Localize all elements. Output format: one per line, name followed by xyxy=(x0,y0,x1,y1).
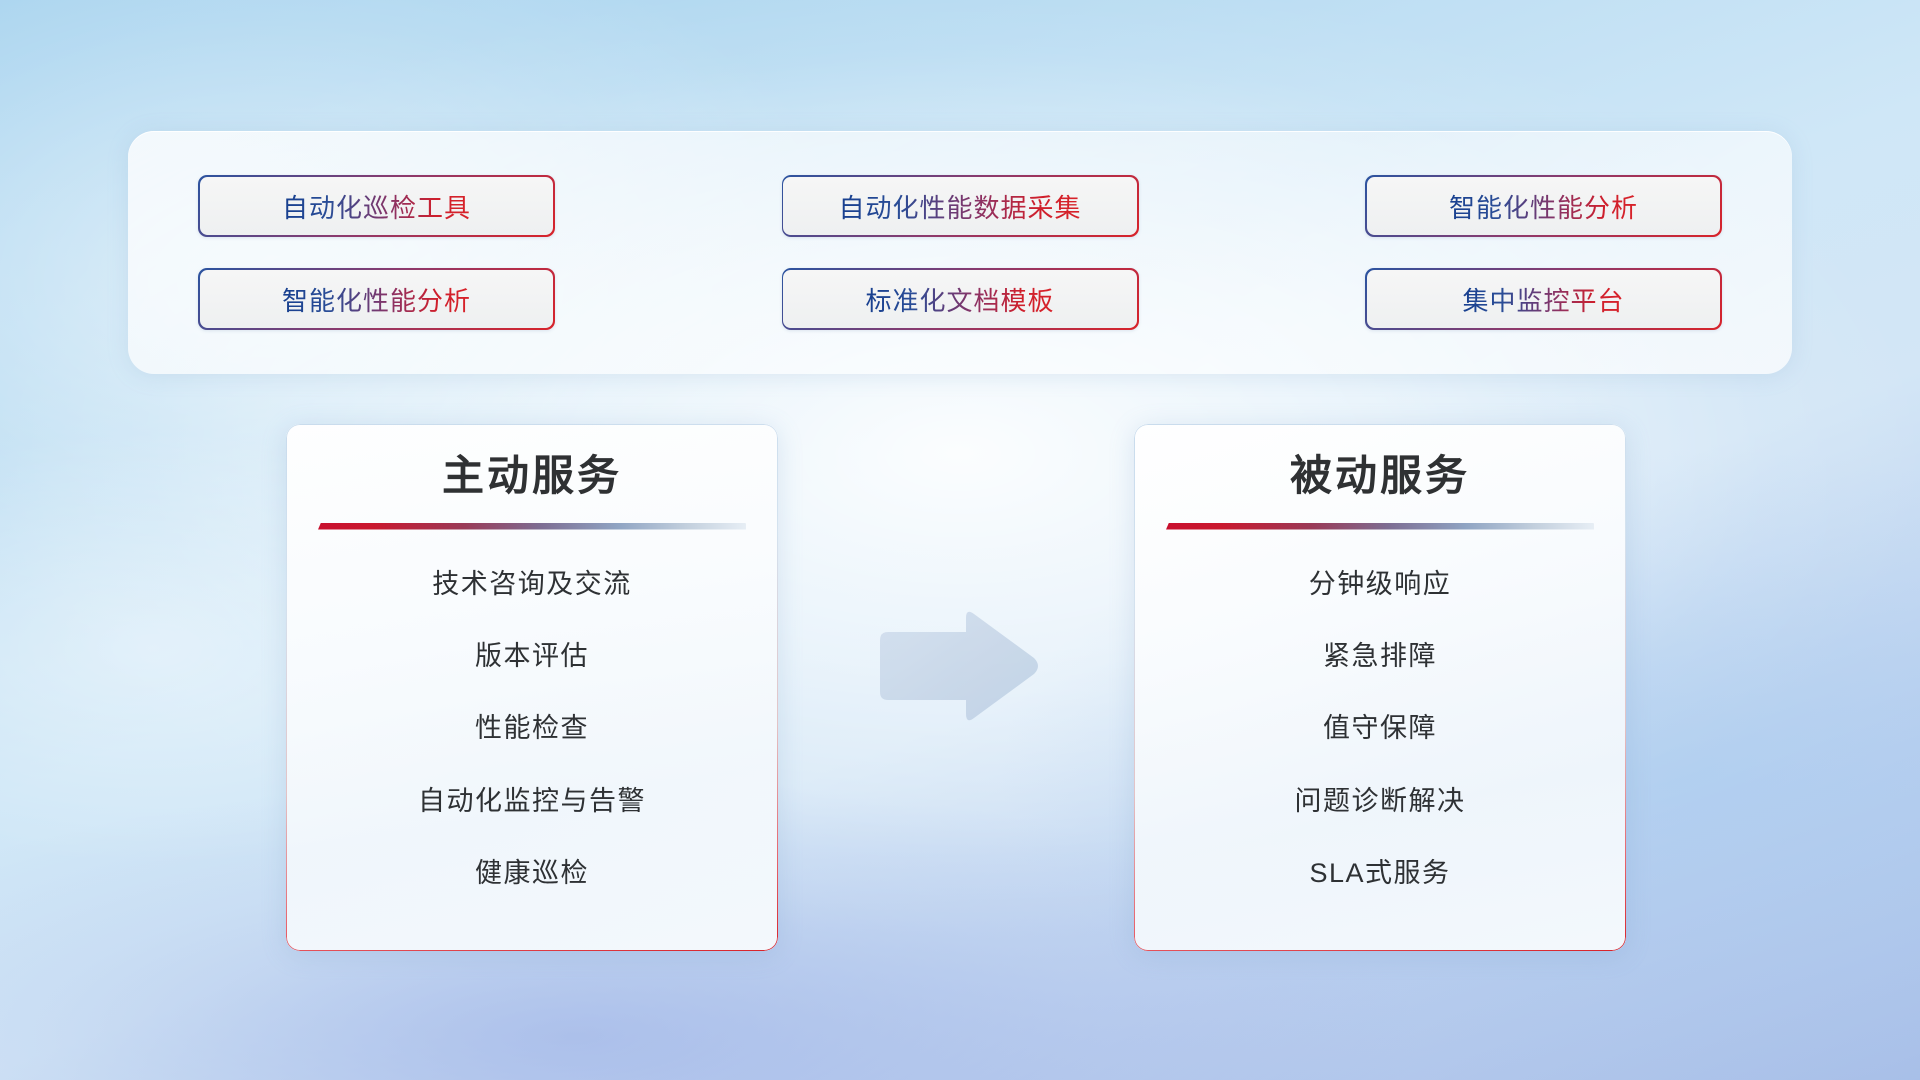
capability-tag-surface: 集中监控平台 xyxy=(1367,270,1721,329)
service-item: 健康巡检 xyxy=(475,857,589,889)
service-card-divider xyxy=(318,523,746,530)
diagram-stage: 自动化巡检工具 自动化性能数据采集 智能化性能分析 智能化性能分析 xyxy=(0,0,1920,1080)
capability-tag-row: 智能化性能分析 标准化文档模板 集中监控平台 xyxy=(198,268,1722,330)
service-card-title: 被动服务 xyxy=(1290,450,1470,503)
service-item-list: 分钟级响应 紧急排障 值守保障 问题诊断解决 SLA式服务 xyxy=(1174,568,1586,890)
service-item: 技术咨询及交流 xyxy=(432,568,632,600)
service-card-body: 主动服务 技术咨询及交流 版本评估 性能检查 自动化监控与告警 健康巡检 xyxy=(286,424,778,951)
service-card-divider xyxy=(1166,523,1594,530)
service-item: 值守保障 xyxy=(1323,712,1437,744)
service-card-proactive[interactable]: 主动服务 技术咨询及交流 版本评估 性能检查 自动化监控与告警 健康巡检 xyxy=(286,424,778,951)
service-item: 版本评估 xyxy=(475,640,589,672)
capability-tag[interactable]: 智能化性能分析 xyxy=(198,268,555,330)
capability-tag[interactable]: 智能化性能分析 xyxy=(1365,175,1722,237)
service-item-list: 技术咨询及交流 版本评估 性能检查 自动化监控与告警 健康巡检 xyxy=(326,568,738,890)
service-item: SLA式服务 xyxy=(1309,857,1450,889)
capability-tag[interactable]: 自动化性能数据采集 xyxy=(782,175,1139,237)
service-item: 分钟级响应 xyxy=(1309,568,1452,600)
capability-tag-surface: 智能化性能分析 xyxy=(200,270,554,329)
capability-tag-label: 自动化性能数据采集 xyxy=(838,188,1081,225)
service-item: 性能检查 xyxy=(475,712,589,744)
capability-tag-label: 集中监控平台 xyxy=(1462,281,1624,318)
capability-tag[interactable]: 标准化文档模板 xyxy=(782,268,1139,330)
capability-tag-label: 智能化性能分析 xyxy=(1449,188,1638,225)
capability-tag-surface: 标准化文档模板 xyxy=(783,270,1137,329)
service-card-body: 被动服务 分钟级响应 紧急排障 值守保障 问题诊断解决 SLA式服务 xyxy=(1134,424,1626,951)
capability-tag-surface: 智能化性能分析 xyxy=(1367,177,1721,236)
capability-tag[interactable]: 自动化巡检工具 xyxy=(198,175,555,237)
service-item: 紧急排障 xyxy=(1323,640,1437,672)
capability-tag-surface: 自动化性能数据采集 xyxy=(783,177,1137,236)
service-card-title: 主动服务 xyxy=(442,450,622,503)
arrow-right-icon xyxy=(874,606,1042,726)
service-card-reactive[interactable]: 被动服务 分钟级响应 紧急排障 值守保障 问题诊断解决 SLA式服务 xyxy=(1134,424,1626,951)
capability-tag-label: 智能化性能分析 xyxy=(282,281,471,318)
capability-tag[interactable]: 集中监控平台 xyxy=(1365,268,1722,330)
capability-tag-label: 自动化巡检工具 xyxy=(282,188,471,225)
capability-tag-label: 标准化文档模板 xyxy=(865,281,1054,318)
capability-tag-surface: 自动化巡检工具 xyxy=(200,177,554,236)
service-item: 自动化监控与告警 xyxy=(418,785,646,817)
capability-tag-row: 自动化巡检工具 自动化性能数据采集 智能化性能分析 xyxy=(198,175,1722,237)
capability-tag-panel: 自动化巡检工具 自动化性能数据采集 智能化性能分析 智能化性能分析 xyxy=(128,131,1792,374)
service-item: 问题诊断解决 xyxy=(1295,785,1466,817)
